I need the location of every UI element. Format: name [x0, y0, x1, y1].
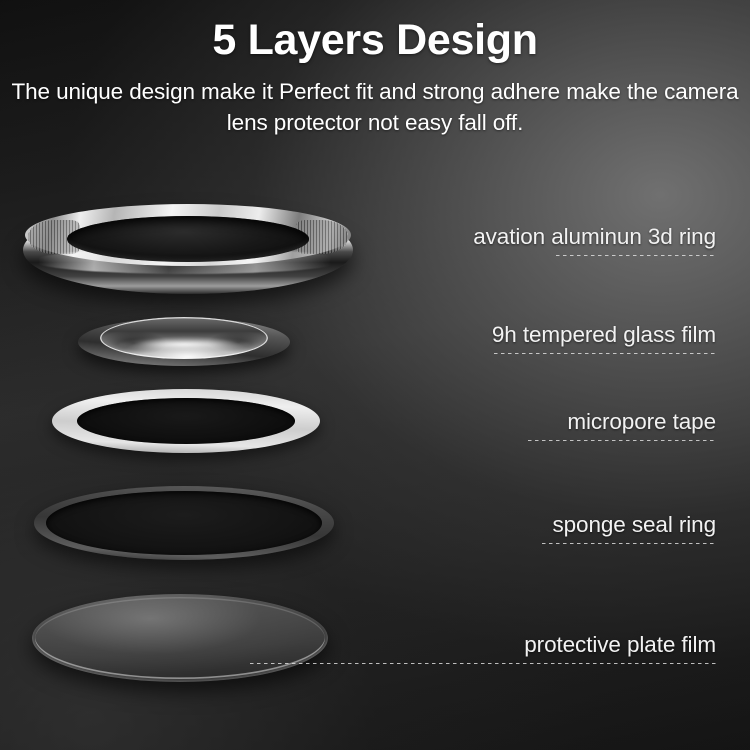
product-infographic: 5 Layers Design The unique design make i… — [0, 0, 750, 750]
leader-line — [250, 663, 716, 664]
leader-line — [556, 255, 716, 256]
callout-label: sponge seal ring — [246, 512, 716, 538]
leader-line — [494, 353, 716, 354]
callout-label: micropore tape — [246, 409, 716, 435]
callout-label: avation aluminun 3d ring — [246, 224, 716, 250]
callout-sponge-seal-ring: sponge seal ring — [246, 512, 716, 544]
callout-label: 9h tempered glass film — [246, 322, 716, 348]
leader-line — [528, 440, 716, 441]
callout-label: protective plate film — [246, 632, 716, 658]
callout-protective-plate: protective plate film — [246, 632, 716, 664]
callout-tempered-glass: 9h tempered glass film — [246, 322, 716, 354]
leader-line — [542, 543, 716, 544]
glass-highlight — [118, 338, 250, 351]
page-title: 5 Layers Design — [0, 14, 750, 66]
page-subtitle: The unique design make it Perfect fit an… — [0, 76, 750, 138]
callout-aluminum-ring: avation aluminun 3d ring — [246, 224, 716, 256]
callout-micropore-tape: micropore tape — [246, 409, 716, 441]
